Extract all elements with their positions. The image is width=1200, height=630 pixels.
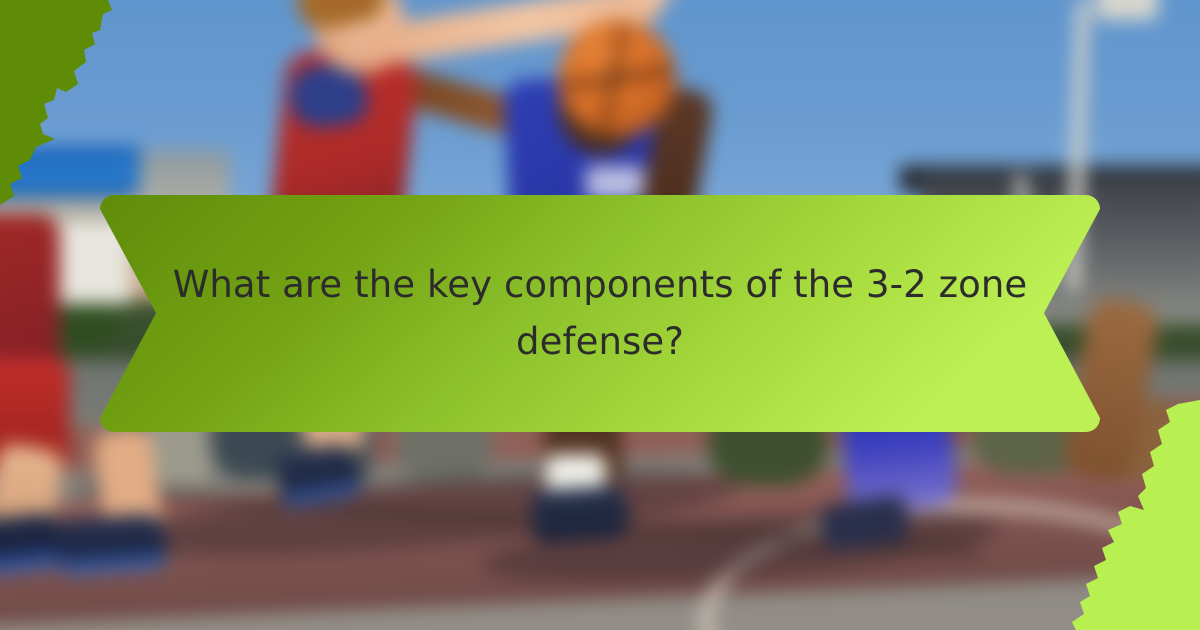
banner-heading-line-2: defense?	[516, 314, 684, 370]
hoop-right	[1096, 0, 1158, 20]
torn-corner-top-left	[0, 0, 140, 210]
player-blue-shoe	[530, 485, 629, 544]
ribbon-banner: What are the key components of the 3-2 z…	[100, 195, 1100, 432]
banner-heading-line-1: What are the key components of the 3-2 z…	[173, 257, 1028, 313]
player-left-shoe-2	[56, 512, 168, 575]
share-card: What are the key components of the 3-2 z…	[0, 0, 1200, 630]
torn-corner-bottom-right	[1050, 400, 1200, 630]
banner-heading: What are the key components of the 3-2 z…	[100, 195, 1100, 432]
player-left-torso	[0, 214, 60, 374]
